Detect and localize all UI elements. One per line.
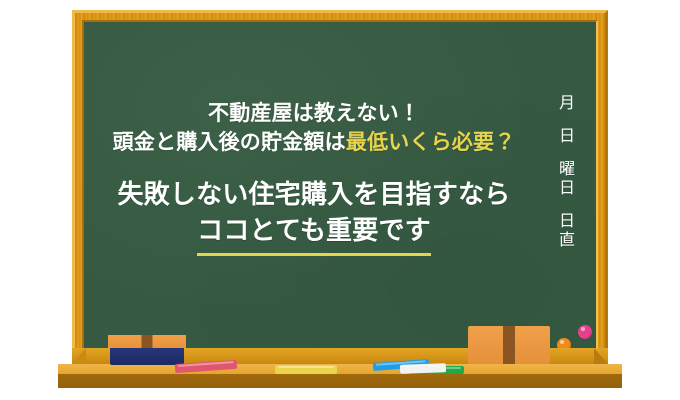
blackboard-scene: 不動産屋は教えない！ 頭金と購入後の貯金額は最低いくら必要？ 失敗しない住宅購入… — [0, 0, 680, 400]
eraser-large-band — [503, 326, 515, 364]
chalkboard-surface: 不動産屋は教えない！ 頭金と購入後の貯金額は最低いくら必要？ 失敗しない住宅購入… — [84, 22, 596, 356]
blackboard-eraser-small — [108, 335, 186, 365]
chalk-yellow — [275, 365, 337, 374]
date-header-duty: 日直 — [557, 212, 573, 250]
date-duty-header: 月 日 曜日 日直 — [550, 94, 580, 250]
scene-kind: classroom-blackboard — [0, 0, 1, 1]
board-frame: 不動産屋は教えない！ 頭金と購入後の貯金額は最低いくら必要？ 失敗しない住宅購入… — [72, 10, 608, 368]
chalk-white — [400, 363, 446, 374]
eraser-top-felt — [108, 335, 186, 348]
message-line-4-wrap: ココとても重要です — [84, 214, 544, 256]
date-header-month: 月 — [557, 94, 573, 113]
tray-slope-right — [594, 348, 608, 364]
eraser-handle-band — [142, 335, 153, 348]
message-line-2-prefix: 頭金と購入後の貯金額は — [113, 130, 346, 154]
message-line-1: 不動産屋は教えない！ — [84, 100, 544, 128]
date-header-day: 日 — [557, 127, 573, 146]
message-line-2: 頭金と購入後の貯金額は最低いくら必要？ — [84, 129, 544, 157]
tray-lip — [58, 364, 622, 374]
tray-slope-left — [72, 348, 86, 364]
blackboard-eraser-large — [468, 326, 550, 364]
chalk-tray — [58, 348, 622, 390]
message-spacer — [84, 156, 544, 178]
eraser-body — [110, 348, 184, 365]
magnet-pink — [578, 325, 592, 339]
message-line-4: ココとても重要です — [197, 214, 431, 256]
tray-front-face — [58, 374, 622, 388]
message-line-2-highlight: 最低いくら必要？ — [346, 130, 516, 154]
date-header-weekday: 曜日 — [557, 160, 573, 198]
board-message: 不動産屋は教えない！ 頭金と購入後の貯金額は最低いくら必要？ 失敗しない住宅購入… — [84, 100, 544, 256]
message-line-3: 失敗しない住宅購入を目指すなら — [84, 178, 544, 212]
